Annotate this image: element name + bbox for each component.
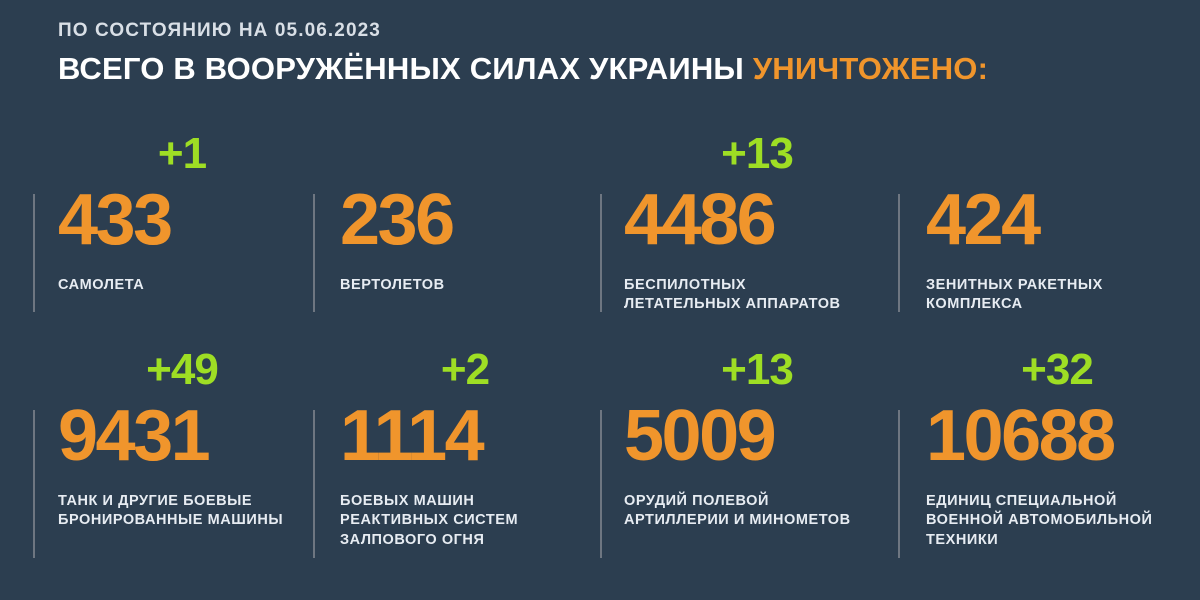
stat-label: ОРУДИЙ ПОЛЕВОЙ АРТИЛЛЕРИИ И МИНОМЕТОВ (624, 492, 890, 531)
column-divider (33, 410, 35, 558)
stat-value: 9431 (58, 400, 208, 472)
stat-value: 433 (58, 184, 171, 256)
stat-cell-helicopters: 236 ВЕРТОЛЕТОВ (340, 128, 590, 344)
stat-value: 236 (340, 184, 453, 256)
stat-delta-badge: +2 (340, 348, 590, 394)
stat-value: 10688 (926, 400, 1114, 472)
stat-cell-air-defense: 424 ЗЕНИТНЫХ РАКЕТНЫХ КОМПЛЕКСА (926, 128, 1188, 344)
stat-cell-drones: +13 4486 БЕСПИЛОТНЫХ ЛЕТАТЕЛЬНЫХ АППАРАТ… (624, 128, 890, 344)
stat-label: ТАНК И ДРУГИЕ БОЕВЫЕ БРОНИРОВАННЫЕ МАШИН… (58, 492, 306, 531)
infographic-panel: ПО СОСТОЯНИЮ НА 05.06.2023 ВСЕГО В ВООРУ… (0, 0, 1200, 600)
stat-cell-mlrs: +2 1114 БОЕВЫХ МАШИН РЕАКТИВНЫХ СИСТЕМ З… (340, 344, 590, 560)
stat-cell-military-vehicles: +32 10688 ЕДИНИЦ СПЕЦИАЛЬНОЙ ВОЕННОЙ АВТ… (926, 344, 1188, 560)
stat-value: 4486 (624, 184, 774, 256)
stat-label: САМОЛЕТА (58, 276, 306, 295)
stat-value: 1114 (340, 400, 482, 472)
stat-cell-tanks: +49 9431 ТАНК И ДРУГИЕ БОЕВЫЕ БРОНИРОВАН… (58, 344, 306, 560)
stat-label: ЗЕНИТНЫХ РАКЕТНЫХ КОМПЛЕКСА (926, 276, 1188, 315)
stats-row-1: +1 433 САМОЛЕТА 236 ВЕРТОЛЕТОВ +13 4486 … (0, 128, 1200, 344)
column-divider (313, 410, 315, 558)
headline-accent-text: УНИЧТОЖЕНО: (753, 51, 988, 86)
stats-grid: +1 433 САМОЛЕТА 236 ВЕРТОЛЕТОВ +13 4486 … (0, 128, 1200, 560)
column-divider (600, 194, 602, 312)
stat-cell-aircraft: +1 433 САМОЛЕТА (58, 128, 306, 344)
stat-label: ВЕРТОЛЕТОВ (340, 276, 590, 295)
page-title: ВСЕГО В ВООРУЖЁННЫХ СИЛАХ УКРАИНЫ УНИЧТО… (58, 51, 1180, 87)
column-divider (600, 410, 602, 558)
headline-main-text: ВСЕГО В ВООРУЖЁННЫХ СИЛАХ УКРАИНЫ (58, 51, 744, 86)
column-divider (313, 194, 315, 312)
stats-row-2: +49 9431 ТАНК И ДРУГИЕ БОЕВЫЕ БРОНИРОВАН… (0, 344, 1200, 560)
column-divider (898, 410, 900, 558)
stat-label: БЕСПИЛОТНЫХ ЛЕТАТЕЛЬНЫХ АППАРАТОВ (624, 276, 890, 315)
header: ПО СОСТОЯНИЮ НА 05.06.2023 ВСЕГО В ВООРУ… (58, 20, 1180, 87)
stat-delta-badge: +13 (624, 132, 890, 178)
as-of-date: ПО СОСТОЯНИЮ НА 05.06.2023 (58, 20, 1180, 42)
stat-delta-badge: +32 (926, 348, 1188, 394)
stat-cell-artillery: +13 5009 ОРУДИЙ ПОЛЕВОЙ АРТИЛЛЕРИИ И МИН… (624, 344, 890, 560)
stat-label: ЕДИНИЦ СПЕЦИАЛЬНОЙ ВОЕННОЙ АВТОМОБИЛЬНОЙ… (926, 492, 1188, 550)
column-divider (33, 194, 35, 312)
stat-value: 424 (926, 184, 1039, 256)
stat-delta-badge: +1 (58, 132, 306, 178)
column-divider (898, 194, 900, 312)
stat-value: 5009 (624, 400, 774, 472)
stat-label: БОЕВЫХ МАШИН РЕАКТИВНЫХ СИСТЕМ ЗАЛПОВОГО… (340, 492, 590, 550)
stat-delta-badge: +13 (624, 348, 890, 394)
stat-delta-badge: +49 (58, 348, 306, 394)
